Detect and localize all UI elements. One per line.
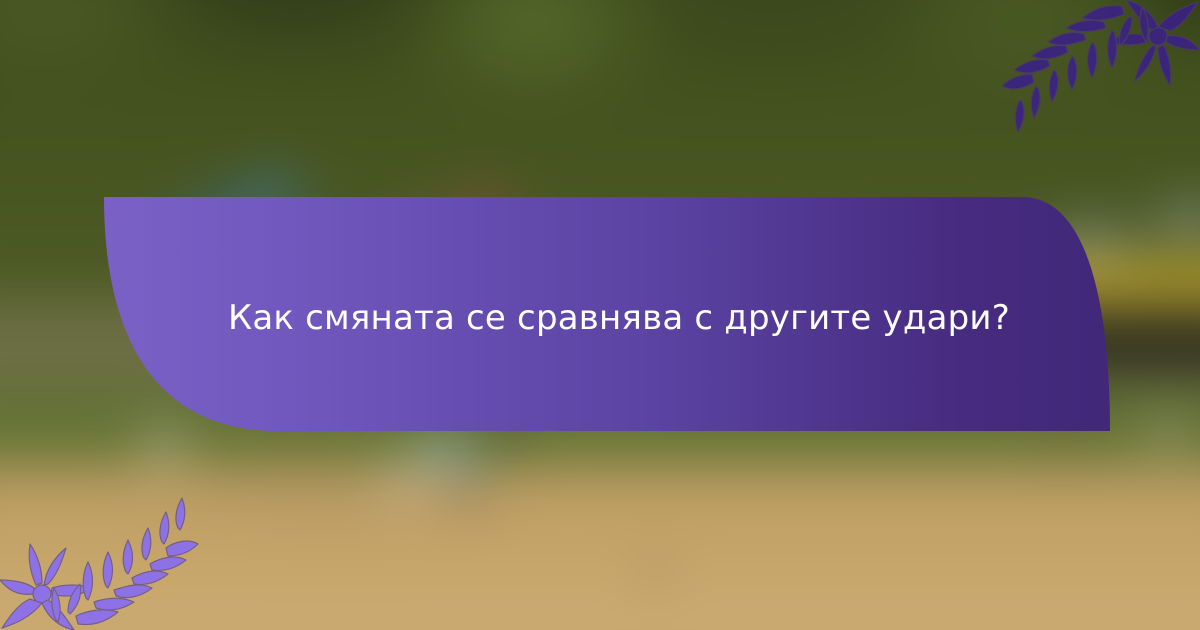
floral-ornament-icon-bottom-left [0,495,200,630]
background-shadow [666,300,1200,390]
floral-ornament-icon-top-right [1000,0,1200,135]
social-card: Как смяната се сравнява с другите удари? [0,0,1200,630]
background-ball [640,563,670,589]
